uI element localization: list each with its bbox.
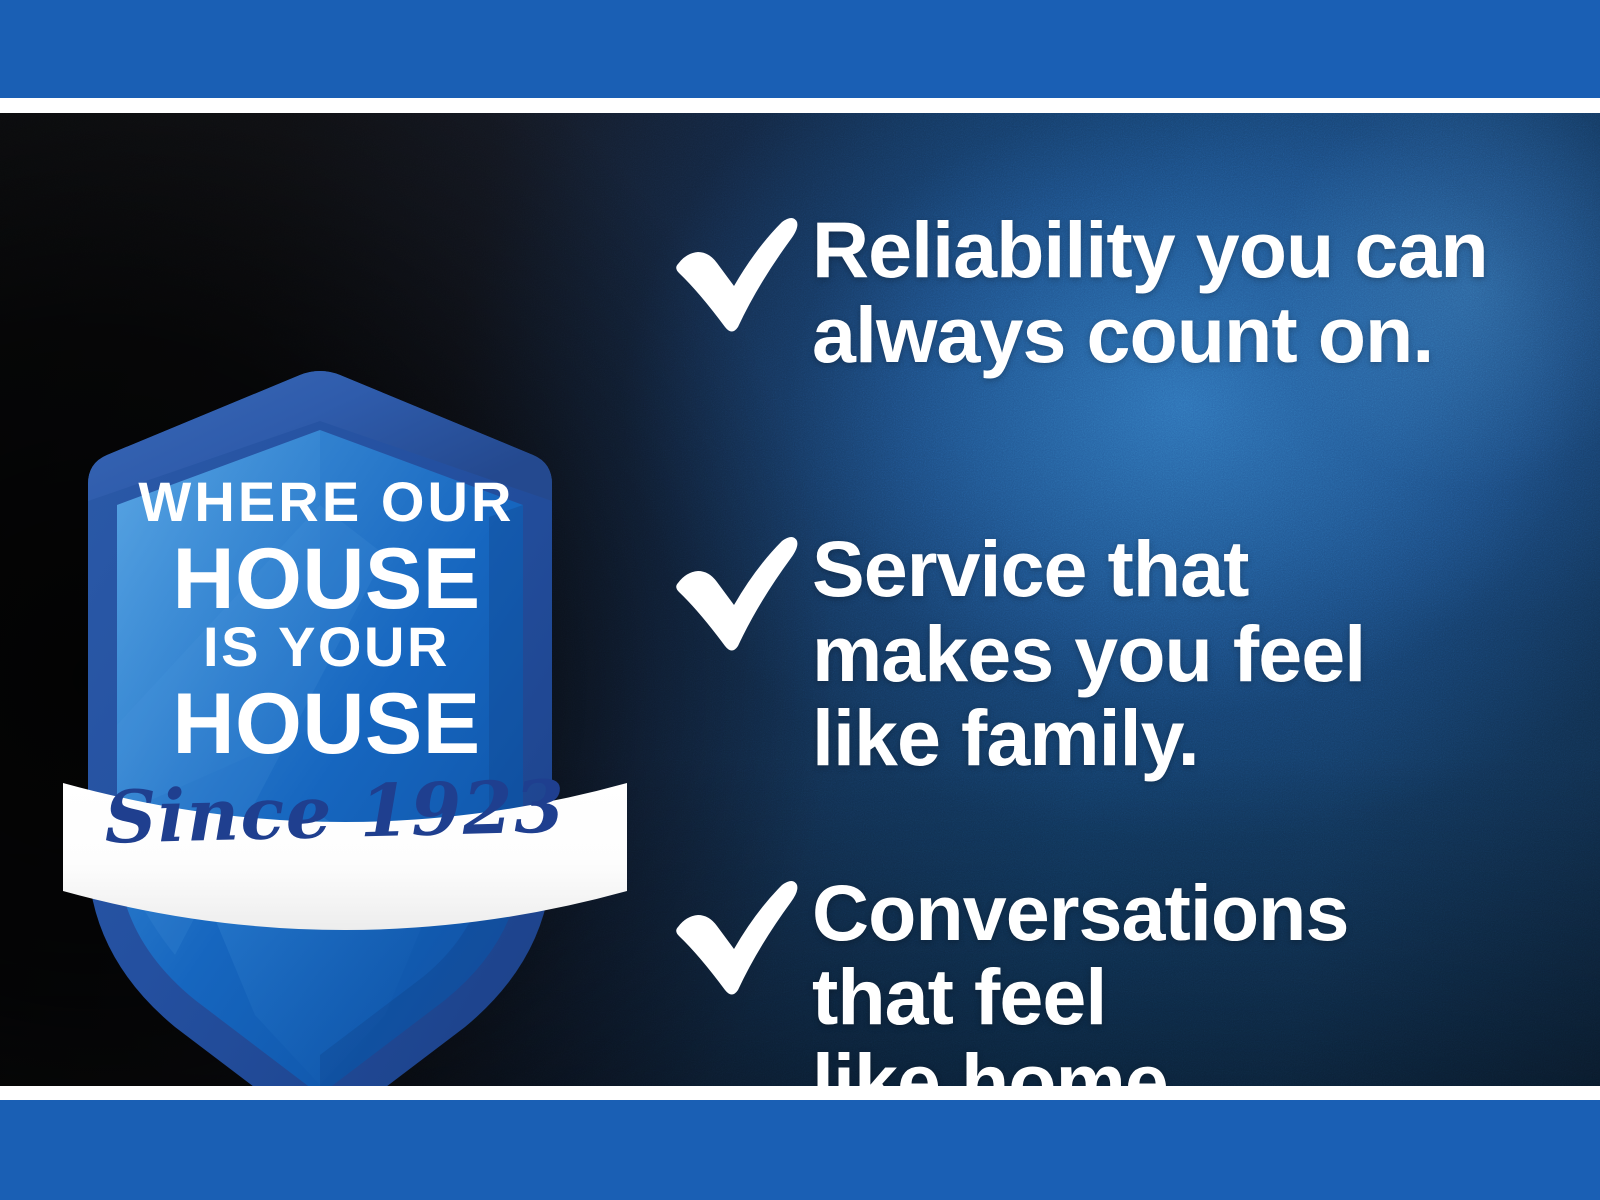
list-item: Service that makes you feel like family. <box>672 527 1502 781</box>
list-item: Reliability you can always count on. <box>672 208 1502 377</box>
check-icon <box>672 871 812 995</box>
top-white-divider <box>0 98 1600 113</box>
list-item-text: Conversations that feel like home. <box>812 871 1502 1086</box>
company-badge: WHERE OUR HOUSE IS YOUR HOUSE Since 1923 <box>55 255 635 1075</box>
check-icon <box>672 527 812 651</box>
bottom-white-divider <box>0 1086 1600 1101</box>
bottom-brand-bar <box>0 1100 1600 1200</box>
top-brand-bar <box>0 0 1600 98</box>
benefits-list: Reliability you can always count on. Ser… <box>672 208 1502 1086</box>
list-item-text: Reliability you can always count on. <box>812 208 1502 377</box>
promo-graphic: WHERE OUR HOUSE IS YOUR HOUSE Since 1923… <box>0 0 1600 1200</box>
main-stage: WHERE OUR HOUSE IS YOUR HOUSE Since 1923… <box>0 113 1600 1086</box>
shield-graphic <box>55 255 635 1075</box>
check-icon <box>672 208 812 332</box>
list-item-text: Service that makes you feel like family. <box>812 527 1502 781</box>
list-item: Conversations that feel like home. <box>672 871 1502 1086</box>
